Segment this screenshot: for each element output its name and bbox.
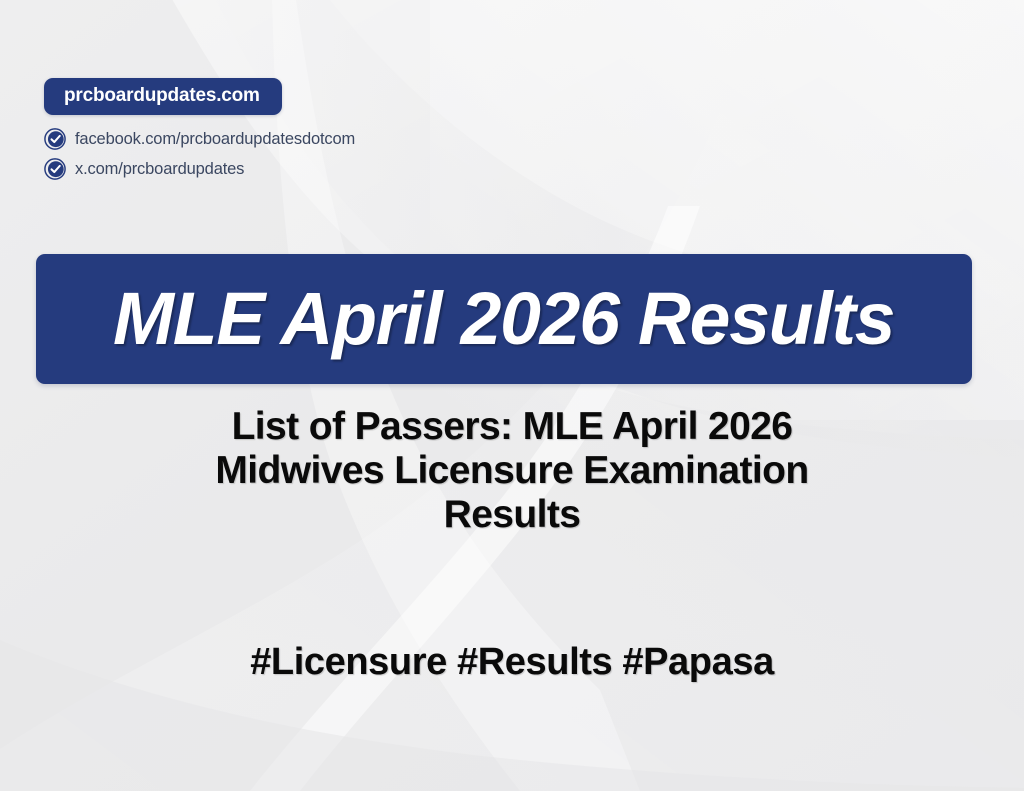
subtitle-line-1: List of Passers: MLE April 2026 xyxy=(80,405,944,449)
headline-banner: MLE April 2026 Results xyxy=(36,254,972,384)
subtitle-line-3: Results xyxy=(80,493,944,537)
hashtags-text: #Licensure #Results #Papasa xyxy=(0,640,1024,684)
brand-header: prcboardupdates.com facebook.com/prcboar… xyxy=(44,78,355,186)
verified-check-icon xyxy=(44,128,66,150)
social-link-label: x.com/prcboardupdates xyxy=(75,161,244,178)
poster-canvas: prcboardupdates.com facebook.com/prcboar… xyxy=(0,0,1024,791)
verified-check-icon xyxy=(44,158,66,180)
social-links-list: facebook.com/prcboardupdatesdotcom x.com… xyxy=(44,126,355,183)
social-link-facebook[interactable]: facebook.com/prcboardupdatesdotcom xyxy=(44,126,355,153)
subtitle-block: List of Passers: MLE April 2026 Midwives… xyxy=(0,405,1024,537)
social-link-label: facebook.com/prcboardupdatesdotcom xyxy=(75,131,355,148)
social-link-x[interactable]: x.com/prcboardupdates xyxy=(44,156,355,183)
subtitle-line-2: Midwives Licensure Examination xyxy=(80,449,944,493)
site-url-badge[interactable]: prcboardupdates.com xyxy=(44,78,282,115)
headline-text: MLE April 2026 Results xyxy=(113,282,894,356)
